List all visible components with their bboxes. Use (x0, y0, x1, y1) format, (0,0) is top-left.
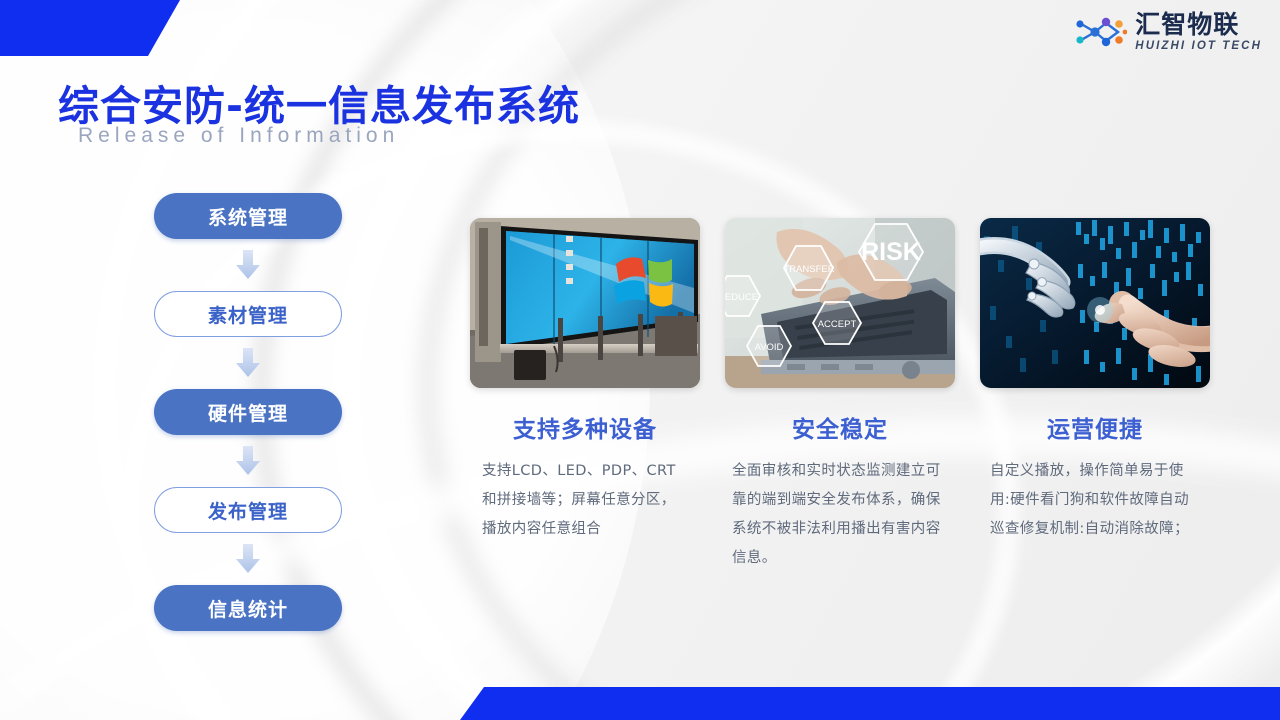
bottom-right-accent-bar (460, 687, 1280, 720)
feature-card: RISK TRANSFER REDUCE ACCEPT AVOID 安全稳定 全… (725, 218, 955, 573)
flow-step-release-management[interactable]: 发布管理 (154, 487, 342, 533)
svg-text:RISK: RISK (861, 238, 921, 266)
feature-card-body: 支持LCD、LED、PDP、CRT和拼接墙等；屏幕任意分区，播放内容任意组合 (482, 457, 688, 544)
flow-step-information-statistics[interactable]: 信息统计 (154, 585, 342, 631)
arrow-down-icon (235, 446, 261, 476)
arrow-down-icon (235, 348, 261, 378)
top-left-accent-bar (0, 0, 180, 56)
feature-card-title: 运营便捷 (1047, 410, 1143, 444)
process-flow: 系统管理 素材管理 硬件管理 发布管理 信息统计 (152, 193, 344, 631)
page-title: 综合安防-统一信息发布系统 (58, 72, 580, 132)
flow-step-material-management[interactable]: 素材管理 (154, 291, 342, 337)
slide-canvas: 汇智物联 HUIZHI IOT TECH 综合安防-统一信息发布系统 Relea… (0, 0, 1280, 720)
svg-text:AVOID: AVOID (755, 342, 784, 353)
video-wall-display-photo (470, 218, 700, 388)
feature-card-body: 全面审核和实时状态监测建立可靠的端到端安全发布体系，确保系统不被非法利用播出有害… (732, 457, 948, 573)
feature-card: 运营便捷 自定义播放，操作简单易于使用:硬件看门狗和软件故障自动巡查修复机制:自… (980, 218, 1210, 573)
svg-text:ACCEPT: ACCEPT (818, 319, 857, 330)
flow-step-system-management[interactable]: 系统管理 (154, 193, 342, 239)
feature-card-title: 安全稳定 (792, 410, 888, 444)
brand-name-en: HUIZHI IOT TECH (1135, 41, 1262, 53)
risk-management-laptop-photo: RISK TRANSFER REDUCE ACCEPT AVOID (725, 218, 955, 388)
feature-card: 支持多种设备 支持LCD、LED、PDP、CRT和拼接墙等；屏幕任意分区，播放内… (470, 218, 700, 573)
flow-step-hardware-management[interactable]: 硬件管理 (154, 389, 342, 435)
brand-logo: 汇智物联 HUIZHI IOT TECH (1075, 12, 1262, 53)
feature-card-body: 自定义播放，操作简单易于使用:硬件看门狗和软件故障自动巡查修复机制:自动消除故障… (990, 457, 1200, 544)
molecule-node-icon (1075, 13, 1127, 51)
brand-name-cn: 汇智物联 (1135, 12, 1239, 37)
feature-card-title: 支持多种设备 (513, 410, 657, 444)
arrow-down-icon (235, 544, 261, 574)
arrow-down-icon (235, 250, 261, 280)
page-subtitle: Release of Information (78, 124, 399, 148)
feature-card-list: 支持多种设备 支持LCD、LED、PDP、CRT和拼接墙等；屏幕任意分区，播放内… (470, 218, 1210, 573)
svg-text:REDUCE: REDUCE (725, 292, 758, 303)
svg-text:TRANSFER: TRANSFER (783, 264, 834, 275)
robot-human-hand-data-photo (980, 218, 1210, 388)
